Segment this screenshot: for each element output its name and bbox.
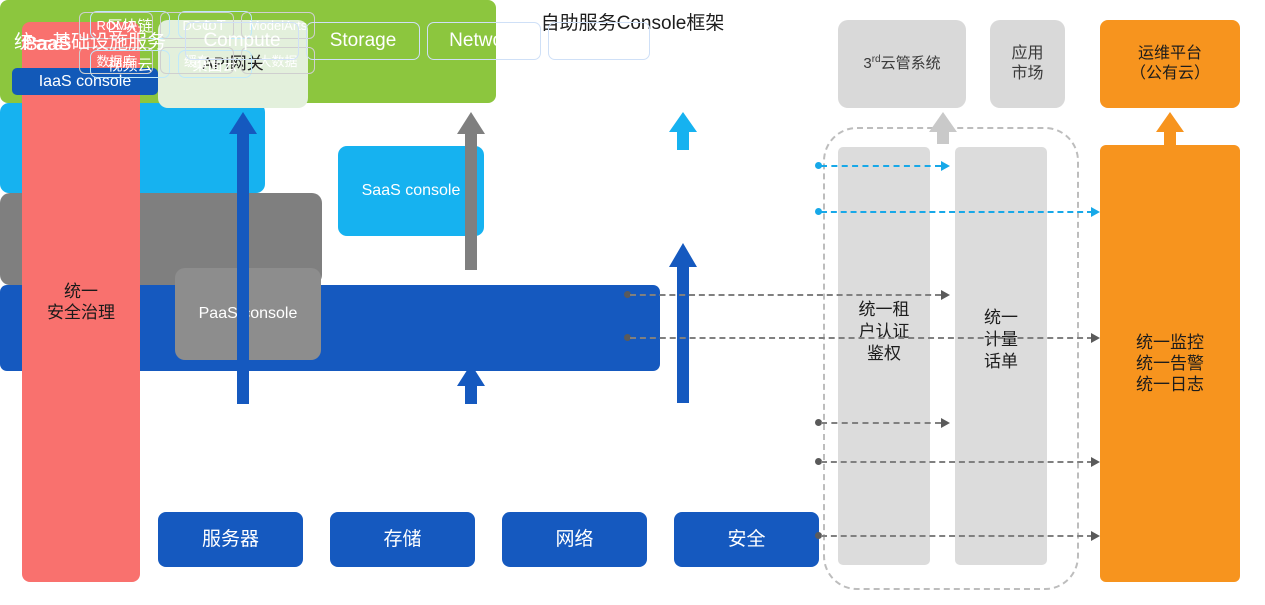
flow-arrow-resource-to-ops	[1091, 531, 1100, 541]
infrastructure-layer-label: 统一基础设施服务	[14, 27, 166, 54]
metering-line2: 计量	[955, 329, 1047, 351]
ops-panel-line1: 统一监控	[1136, 332, 1204, 353]
auth-line2: 户认证	[838, 321, 930, 343]
auth-line1: 统一租	[838, 299, 930, 321]
infra-chip-storage[interactable]: Storage	[306, 22, 420, 60]
flow-resource-to-ops	[821, 535, 1093, 537]
infra-chip-network[interactable]: Network	[427, 22, 541, 60]
security-governance-line1: 统一	[47, 281, 115, 302]
metering-line3: 话单	[955, 351, 1047, 373]
security-governance-line2: 安全治理	[47, 302, 115, 323]
metering-line1: 统一	[955, 307, 1047, 329]
app-market-line2: 市场	[1011, 64, 1043, 84]
arrow-infra-to-paas	[456, 364, 486, 404]
resource-box-network[interactable]: 网络	[502, 512, 647, 567]
ops-panel-line2: 统一告警	[1136, 353, 1204, 374]
arrow-infra-to-api-gateway	[228, 112, 258, 404]
infra-chip-cce[interactable]: CCE	[548, 22, 650, 60]
flow-infra-to-auth	[821, 422, 941, 424]
architecture-diagram: 统一 安全治理 API网关 自助服务Console框架 IaaS console…	[0, 0, 1265, 605]
flow-infra-to-ops	[821, 461, 1093, 463]
flow-arrow-infra-to-auth	[941, 418, 950, 428]
shared-service-metering-bar: 统一 计量 话单	[955, 147, 1047, 565]
flow-arrow-infra-to-ops	[1091, 457, 1100, 467]
app-market-box: 应用 市场	[990, 20, 1065, 108]
third-party-cloud-label: 3rd云管系统	[863, 54, 940, 74]
arrow-shared-to-third-party-cloud	[928, 112, 958, 144]
flow-arrow-paas-to-auth	[941, 290, 950, 300]
flow-paas-to-auth	[630, 294, 941, 296]
arrow-saas-to-console	[668, 112, 698, 150]
shared-service-auth-bar: 统一租 户认证 鉴权	[838, 147, 930, 565]
app-market-line1: 应用	[1011, 44, 1043, 64]
ops-platform-top-box: 运维平台 （公有云）	[1100, 20, 1240, 108]
ops-platform-panel: 统一监控 统一告警 统一日志	[1100, 145, 1240, 582]
arrow-infra-to-saas	[668, 243, 698, 403]
ops-platform-line1: 运维平台	[1130, 44, 1210, 64]
arrow-paas-to-console	[456, 112, 486, 270]
flow-saas-to-ops	[821, 211, 1093, 213]
resource-box-security[interactable]: 安全	[674, 512, 819, 567]
infra-chip-compute[interactable]: Compute	[185, 22, 299, 60]
flow-arrow-paas-to-ops	[1091, 333, 1100, 343]
resource-box-server[interactable]: 服务器	[158, 512, 303, 567]
security-governance-panel: 统一 安全治理	[22, 22, 140, 582]
arrow-to-ops-platform	[1155, 112, 1185, 148]
flow-arrow-saas-to-auth	[941, 161, 950, 171]
flow-saas-to-auth	[821, 165, 941, 167]
auth-line3: 鉴权	[838, 343, 930, 365]
flow-arrow-saas-to-ops	[1091, 207, 1100, 217]
resource-box-storage[interactable]: 存储	[330, 512, 475, 567]
ops-platform-line2: （公有云）	[1130, 64, 1210, 84]
ops-panel-line3: 统一日志	[1136, 374, 1204, 395]
third-party-cloud-box: 3rd云管系统	[838, 20, 966, 108]
flow-paas-to-ops	[630, 337, 1093, 339]
